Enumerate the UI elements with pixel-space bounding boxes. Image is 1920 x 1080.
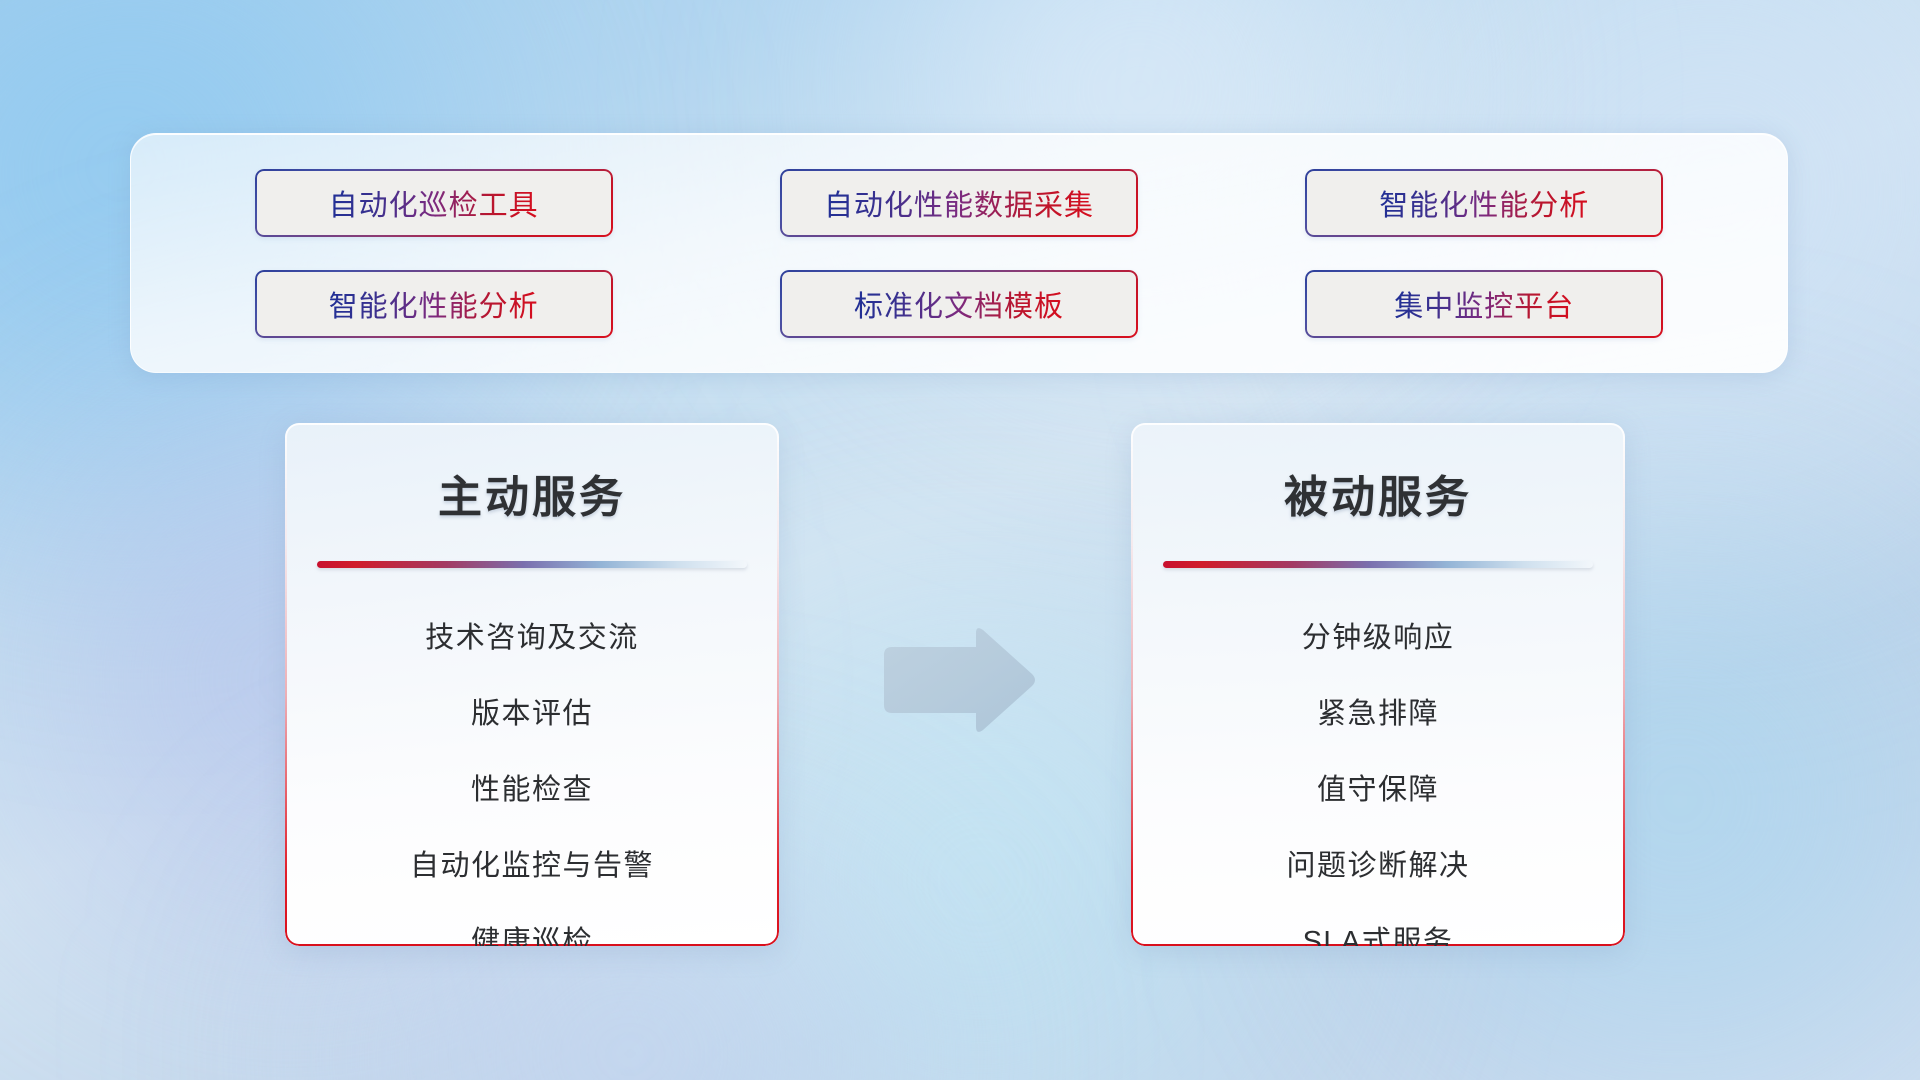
proactive-card-title: 主动服务 [285, 461, 779, 525]
list-item: 值守保障 [1131, 762, 1625, 819]
capability-pill-label: 自动化性能数据采集 [824, 182, 1094, 224]
capability-pill-1[interactable]: 自动化巡检工具 [255, 169, 613, 237]
list-item: 版本评估 [285, 686, 779, 743]
list-item: 紧急排障 [1131, 686, 1625, 743]
capability-pill-5[interactable]: 标准化文档模板 [780, 270, 1138, 338]
capability-pill-3[interactable]: 智能化性能分析 [1305, 169, 1663, 237]
list-item: 技术咨询及交流 [285, 610, 779, 667]
reactive-service-list: 分钟级响应 紧急排障 值守保障 问题诊断解决 SLA式服务 [1131, 610, 1625, 946]
capability-pill-label: 智能化性能分析 [329, 283, 539, 325]
list-item: 分钟级响应 [1131, 610, 1625, 667]
capability-pill-4[interactable]: 智能化性能分析 [255, 270, 613, 338]
proactive-card-divider [317, 561, 747, 568]
capability-pill-label: 标准化文档模板 [854, 283, 1064, 325]
capability-panel: 自动化巡检工具 自动化性能数据采集 智能化性能分析 智能化性能分析 标准化文档模… [130, 133, 1788, 373]
capability-pill-2[interactable]: 自动化性能数据采集 [780, 169, 1138, 237]
reactive-card-divider [1163, 561, 1593, 568]
list-item: 问题诊断解决 [1131, 838, 1625, 895]
reactive-card-title: 被动服务 [1131, 461, 1625, 525]
capability-pill-6[interactable]: 集中监控平台 [1305, 270, 1663, 338]
capability-pill-label: 自动化巡检工具 [329, 182, 539, 224]
list-item: 性能检查 [285, 762, 779, 819]
proactive-service-card: 主动服务 技术咨询及交流 版本评估 性能检查 自动化监控与告警 健康巡检 [285, 423, 779, 946]
capability-pill-label: 集中监控平台 [1394, 283, 1574, 325]
list-item: 健康巡检 [285, 914, 779, 946]
reactive-service-card: 被动服务 分钟级响应 紧急排障 值守保障 问题诊断解决 SLA式服务 [1131, 423, 1625, 946]
capability-pill-grid: 自动化巡检工具 自动化性能数据采集 智能化性能分析 智能化性能分析 标准化文档模… [131, 169, 1787, 338]
arrow-right-icon [880, 625, 1038, 735]
proactive-service-list: 技术咨询及交流 版本评估 性能检查 自动化监控与告警 健康巡检 [285, 610, 779, 946]
list-item: SLA式服务 [1131, 914, 1625, 946]
capability-pill-label: 智能化性能分析 [1379, 182, 1589, 224]
list-item: 自动化监控与告警 [285, 838, 779, 895]
